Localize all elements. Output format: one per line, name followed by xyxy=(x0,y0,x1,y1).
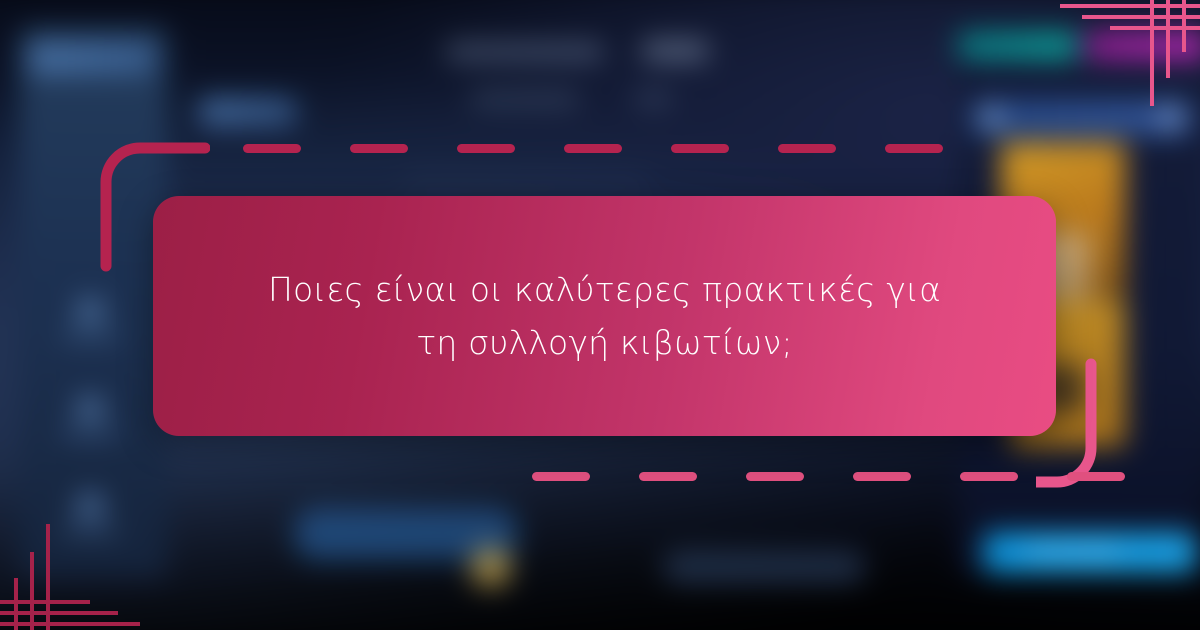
header-text-line-1 xyxy=(446,43,603,61)
question-card: Ποιες είναι οι καλύτερες πρακτικές για τ… xyxy=(153,196,1056,436)
dash-bottom-6 xyxy=(1067,472,1125,481)
bl-v-line-1 xyxy=(46,524,50,630)
bl-v-line-3 xyxy=(14,578,18,630)
sidebar-icon-1 xyxy=(76,299,104,322)
sidebar-label-3 xyxy=(62,526,119,536)
right-panel-search-box xyxy=(971,100,1191,136)
tr-v-line-3 xyxy=(1182,0,1186,52)
ruled-divider xyxy=(409,178,646,183)
sidebar-label-2 xyxy=(62,428,119,438)
bottom-text-block xyxy=(664,551,865,583)
filter-icon xyxy=(1162,109,1179,126)
dash-top-7 xyxy=(885,144,943,153)
screenshot-canvas: Ποιες είναι οι καλύτερες πρακτικές για τ… xyxy=(0,0,1200,630)
dash-top-3 xyxy=(457,144,515,153)
dash-bottom-3 xyxy=(746,472,804,481)
dash-bottom-2 xyxy=(639,472,697,481)
dash-row-top xyxy=(243,144,943,153)
dash-bottom-1 xyxy=(532,472,590,481)
search-icon xyxy=(984,109,1001,126)
dash-top-2 xyxy=(350,144,408,153)
dash-top-5 xyxy=(671,144,729,153)
dash-row-bottom xyxy=(532,472,1125,481)
tr-v-line-2 xyxy=(1166,0,1170,78)
dash-top-1 xyxy=(243,144,301,153)
header-text-line-4 xyxy=(634,91,672,105)
sidebar-logo xyxy=(30,43,155,75)
header-text-line-3 xyxy=(471,91,579,106)
sidebar-icon-2 xyxy=(76,397,104,420)
gold-avatar-dot xyxy=(471,547,511,587)
tr-h-line-3 xyxy=(1110,26,1200,30)
right-panel-button-label xyxy=(1024,543,1119,560)
dash-bottom-5 xyxy=(960,472,1018,481)
sidebar-icon-3 xyxy=(76,494,104,517)
dash-top-6 xyxy=(778,144,836,153)
bl-h-line-1 xyxy=(0,622,140,626)
dash-bottom-4 xyxy=(853,472,911,481)
dash-top-4 xyxy=(564,144,622,153)
content-tab-pill xyxy=(199,98,297,126)
right-panel-tab-teal xyxy=(958,32,1077,60)
tr-v-line-1 xyxy=(1150,0,1154,106)
tr-h-line-1 xyxy=(1060,4,1200,8)
bl-v-line-2 xyxy=(30,552,34,630)
sidebar-label-1 xyxy=(62,331,119,341)
header-text-line-2 xyxy=(642,40,708,60)
question-text: Ποιες είναι οι καλύτερες πρακτικές για τ… xyxy=(235,263,975,370)
